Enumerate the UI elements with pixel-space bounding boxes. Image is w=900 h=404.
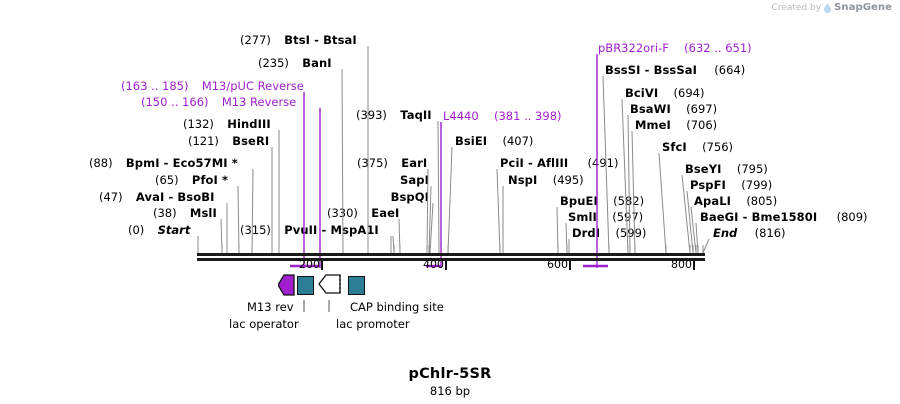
- enzyme-label-bpmi[interactable]: (88) BpmI - Eco57MI *: [89, 158, 238, 170]
- primer-range-pbr322ori-f: (632 .. 651): [684, 41, 752, 55]
- enzyme-label-sapi[interactable]: SapI: [330, 175, 429, 187]
- enzyme-name-pfoi: PfoI *: [192, 173, 228, 187]
- enzyme-label-bcivi[interactable]: BciVI (694): [625, 88, 704, 100]
- backbone-strand-top: [197, 253, 705, 256]
- snapgene-wordmark: SnapGene: [834, 2, 892, 13]
- enzyme-label-taqii[interactable]: (393) TaqII: [356, 110, 432, 122]
- enzyme-position-drdi: (599): [615, 226, 646, 240]
- feature-m13-rev-arrow[interactable]: [278, 274, 295, 296]
- primer-label-m13-reverse[interactable]: (150 .. 166) M13 Reverse: [141, 97, 296, 109]
- enzyme-name-smli: SmlI: [568, 210, 597, 224]
- enzyme-name-hindiii: HindIII: [227, 117, 271, 131]
- enzyme-name-pspfi: PspFI: [690, 178, 726, 192]
- enzyme-position-apali: (805): [746, 194, 777, 208]
- enzyme-name-eaei: EaeI: [371, 206, 399, 220]
- primer-label-l4440[interactable]: L4440 (381 .. 398): [443, 111, 562, 123]
- enzyme-label-hindiii[interactable]: (132) HindIII: [183, 119, 271, 131]
- enzyme-label-bani[interactable]: (235) BanI: [258, 58, 332, 70]
- enzyme-position-bseyi: (795): [737, 162, 768, 176]
- enzyme-name-pvuii: PvuII - MspA1I: [284, 223, 379, 237]
- enzyme-label-mmei[interactable]: MmeI (706): [635, 120, 717, 132]
- plasmid-title: pChlr-5SR: [0, 366, 900, 382]
- enzyme-name-nspi: NspI: [508, 173, 537, 187]
- enzyme-name-bpuei: BpuEI: [560, 194, 598, 208]
- enzyme-position-taqii: (393): [356, 108, 387, 122]
- enzyme-name-bsiei: BsiEI: [455, 134, 487, 148]
- start-label[interactable]: (0) Start: [128, 225, 190, 237]
- enzyme-position-sfci: (756): [702, 140, 733, 154]
- credit-prefix: Created by: [772, 3, 822, 13]
- enzyme-position-bsawi: (697): [686, 102, 717, 116]
- enzyme-name-apali: ApaLI: [694, 194, 731, 208]
- start-position: (0): [128, 223, 144, 237]
- enzyme-position-eari: (375): [357, 156, 388, 170]
- primer-name-m13-reverse: M13 Reverse: [222, 95, 296, 109]
- enzyme-name-bseyi: BseYI: [685, 162, 722, 176]
- enzyme-position-bani: (235): [258, 56, 289, 70]
- primer-range-l4440: (381 .. 398): [494, 109, 562, 123]
- enzyme-name-btsi: BtsI - BtsaI: [284, 33, 357, 47]
- enzyme-label-msli[interactable]: (38) MslI: [153, 208, 217, 220]
- enzyme-label-pcii[interactable]: PciI - AflIII (491): [500, 158, 618, 170]
- enzyme-position-smli: (597): [612, 210, 643, 224]
- enzyme-position-eaei: (330): [327, 206, 358, 220]
- end-label[interactable]: End (816): [713, 228, 786, 240]
- enzyme-label-apali[interactable]: ApaLI (805): [694, 196, 777, 208]
- enzyme-name-baegi: BaeGI - Bme1580I: [700, 210, 817, 224]
- enzyme-label-eari[interactable]: (375) EarI: [357, 158, 427, 170]
- enzyme-label-bseri[interactable]: (121) BseRI: [188, 136, 269, 148]
- enzyme-label-bsiei[interactable]: BsiEI (407): [455, 136, 533, 148]
- enzyme-name-sfci: SfcI: [662, 140, 687, 154]
- enzyme-name-msli: MslI: [190, 206, 217, 220]
- enzyme-position-bpuei: (582): [613, 194, 644, 208]
- enzyme-name-bpmi: BpmI - Eco57MI *: [126, 156, 238, 170]
- enzyme-position-baegi: (809): [837, 210, 868, 224]
- enzyme-label-bspqi[interactable]: BspQI: [330, 192, 429, 204]
- primer-label-m13puc-reverse[interactable]: (163 .. 185) M13/pUC Reverse: [121, 81, 304, 93]
- enzyme-position-pspfi: (799): [741, 178, 772, 192]
- enzyme-name-drdi: DrdI: [572, 226, 600, 240]
- enzyme-label-eaei[interactable]: (330) EaeI: [327, 208, 399, 220]
- feature-label-lac-operator[interactable]: lac operator: [229, 317, 299, 331]
- enzyme-label-drdi[interactable]: DrdI (599): [572, 228, 646, 240]
- enzyme-label-baegi[interactable]: BaeGI - Bme1580I (809): [700, 212, 868, 224]
- enzyme-position-mmei: (706): [686, 118, 717, 132]
- primer-range-m13puc-reverse: (163 .. 185): [121, 79, 189, 93]
- enzyme-position-nspi: (495): [553, 173, 584, 187]
- feature-lac-promoter-arrow[interactable]: [318, 272, 342, 296]
- enzyme-name-sapi: SapI: [400, 173, 429, 187]
- start-name: Start: [158, 223, 191, 237]
- enzyme-name-eari: EarI: [401, 156, 427, 170]
- enzyme-label-bsssi[interactable]: BssSI - BssSaI (664): [605, 65, 745, 77]
- feature-label-cap-binding-site[interactable]: CAP binding site: [350, 300, 444, 314]
- enzyme-position-pcii: (491): [588, 156, 619, 170]
- enzyme-label-bseyi[interactable]: BseYI (795): [685, 164, 768, 176]
- enzyme-position-bseri: (121): [188, 134, 219, 148]
- enzyme-name-bspqi: BspQI: [391, 190, 429, 204]
- plasmid-length: 816 bp: [0, 384, 900, 398]
- primer-name-m13puc-reverse: M13/pUC Reverse: [202, 79, 304, 93]
- ruler-label-800: 800: [671, 258, 692, 271]
- snapgene-droplet-icon: [824, 3, 831, 13]
- primer-range-m13-reverse: (150 .. 166): [141, 95, 209, 109]
- enzyme-position-avai: (47): [99, 190, 123, 204]
- end-position: (816): [755, 226, 786, 240]
- ruler-label-400: 400: [423, 258, 444, 271]
- snapgene-credit: Created by SnapGene: [772, 2, 892, 13]
- enzyme-position-pfoi: (65): [155, 173, 179, 187]
- enzyme-label-smli[interactable]: SmlI (597): [568, 212, 643, 224]
- enzyme-name-bani: BanI: [302, 56, 331, 70]
- enzyme-name-avai: AvaI - BsoBI: [136, 190, 215, 204]
- enzyme-position-bsssi: (664): [714, 63, 745, 77]
- enzyme-position-bcivi: (694): [674, 86, 705, 100]
- enzyme-position-bpmi: (88): [89, 156, 113, 170]
- feature-connectors: [0, 298, 900, 338]
- ruler-label-600: 600: [547, 258, 568, 271]
- enzyme-label-pfoi[interactable]: (65) PfoI *: [155, 175, 228, 187]
- enzyme-label-bpuei[interactable]: BpuEI (582): [560, 196, 644, 208]
- enzyme-position-hindiii: (132): [183, 117, 214, 131]
- enzyme-label-pspfi[interactable]: PspFI (799): [690, 180, 772, 192]
- feature-cap-binding-site-box[interactable]: [348, 276, 365, 295]
- enzyme-label-avai[interactable]: (47) AvaI - BsoBI: [99, 192, 214, 204]
- primer-name-pbr322ori-f: pBR322ori-F: [598, 41, 669, 55]
- end-name: End: [713, 226, 737, 240]
- enzyme-label-sfci[interactable]: SfcI (756): [662, 142, 733, 154]
- enzyme-position-msli: (38): [153, 206, 177, 220]
- enzyme-name-bsssi: BssSI - BssSaI: [605, 63, 697, 77]
- enzyme-label-pvuii[interactable]: (315) PvuII - MspA1I: [240, 225, 379, 237]
- enzyme-label-btsi[interactable]: (277) BtsI - BtsaI: [240, 35, 357, 47]
- enzyme-position-pvuii: (315): [240, 223, 271, 237]
- plasmid-map-canvas: Created by SnapGene (277) BtsI - BtsaI (…: [0, 0, 900, 404]
- feature-lac-operator-box[interactable]: [297, 276, 314, 295]
- enzyme-name-bcivi: BciVI: [625, 86, 658, 100]
- enzyme-name-bseri: BseRI: [232, 134, 269, 148]
- ruler-label-200: 200: [299, 258, 320, 271]
- feature-label-lac-promoter[interactable]: lac promoter: [336, 317, 410, 331]
- feature-label-m13-rev[interactable]: M13 rev: [247, 300, 294, 314]
- primer-name-l4440: L4440: [443, 109, 479, 123]
- enzyme-label-bsawi[interactable]: BsaWI (697): [630, 104, 717, 116]
- enzyme-position-btsi: (277): [240, 33, 271, 47]
- enzyme-name-taqii: TaqII: [400, 108, 431, 122]
- enzyme-position-bsiei: (407): [503, 134, 534, 148]
- enzyme-name-mmei: MmeI: [635, 118, 671, 132]
- ruler-major-ticks: [0, 261, 900, 275]
- enzyme-name-pcii: PciI - AflIII: [500, 156, 568, 170]
- enzyme-name-bsawi: BsaWI: [630, 102, 671, 116]
- enzyme-label-nspi[interactable]: NspI (495): [508, 175, 584, 187]
- primer-label-pbr322ori-f[interactable]: pBR322ori-F (632 .. 651): [598, 43, 752, 55]
